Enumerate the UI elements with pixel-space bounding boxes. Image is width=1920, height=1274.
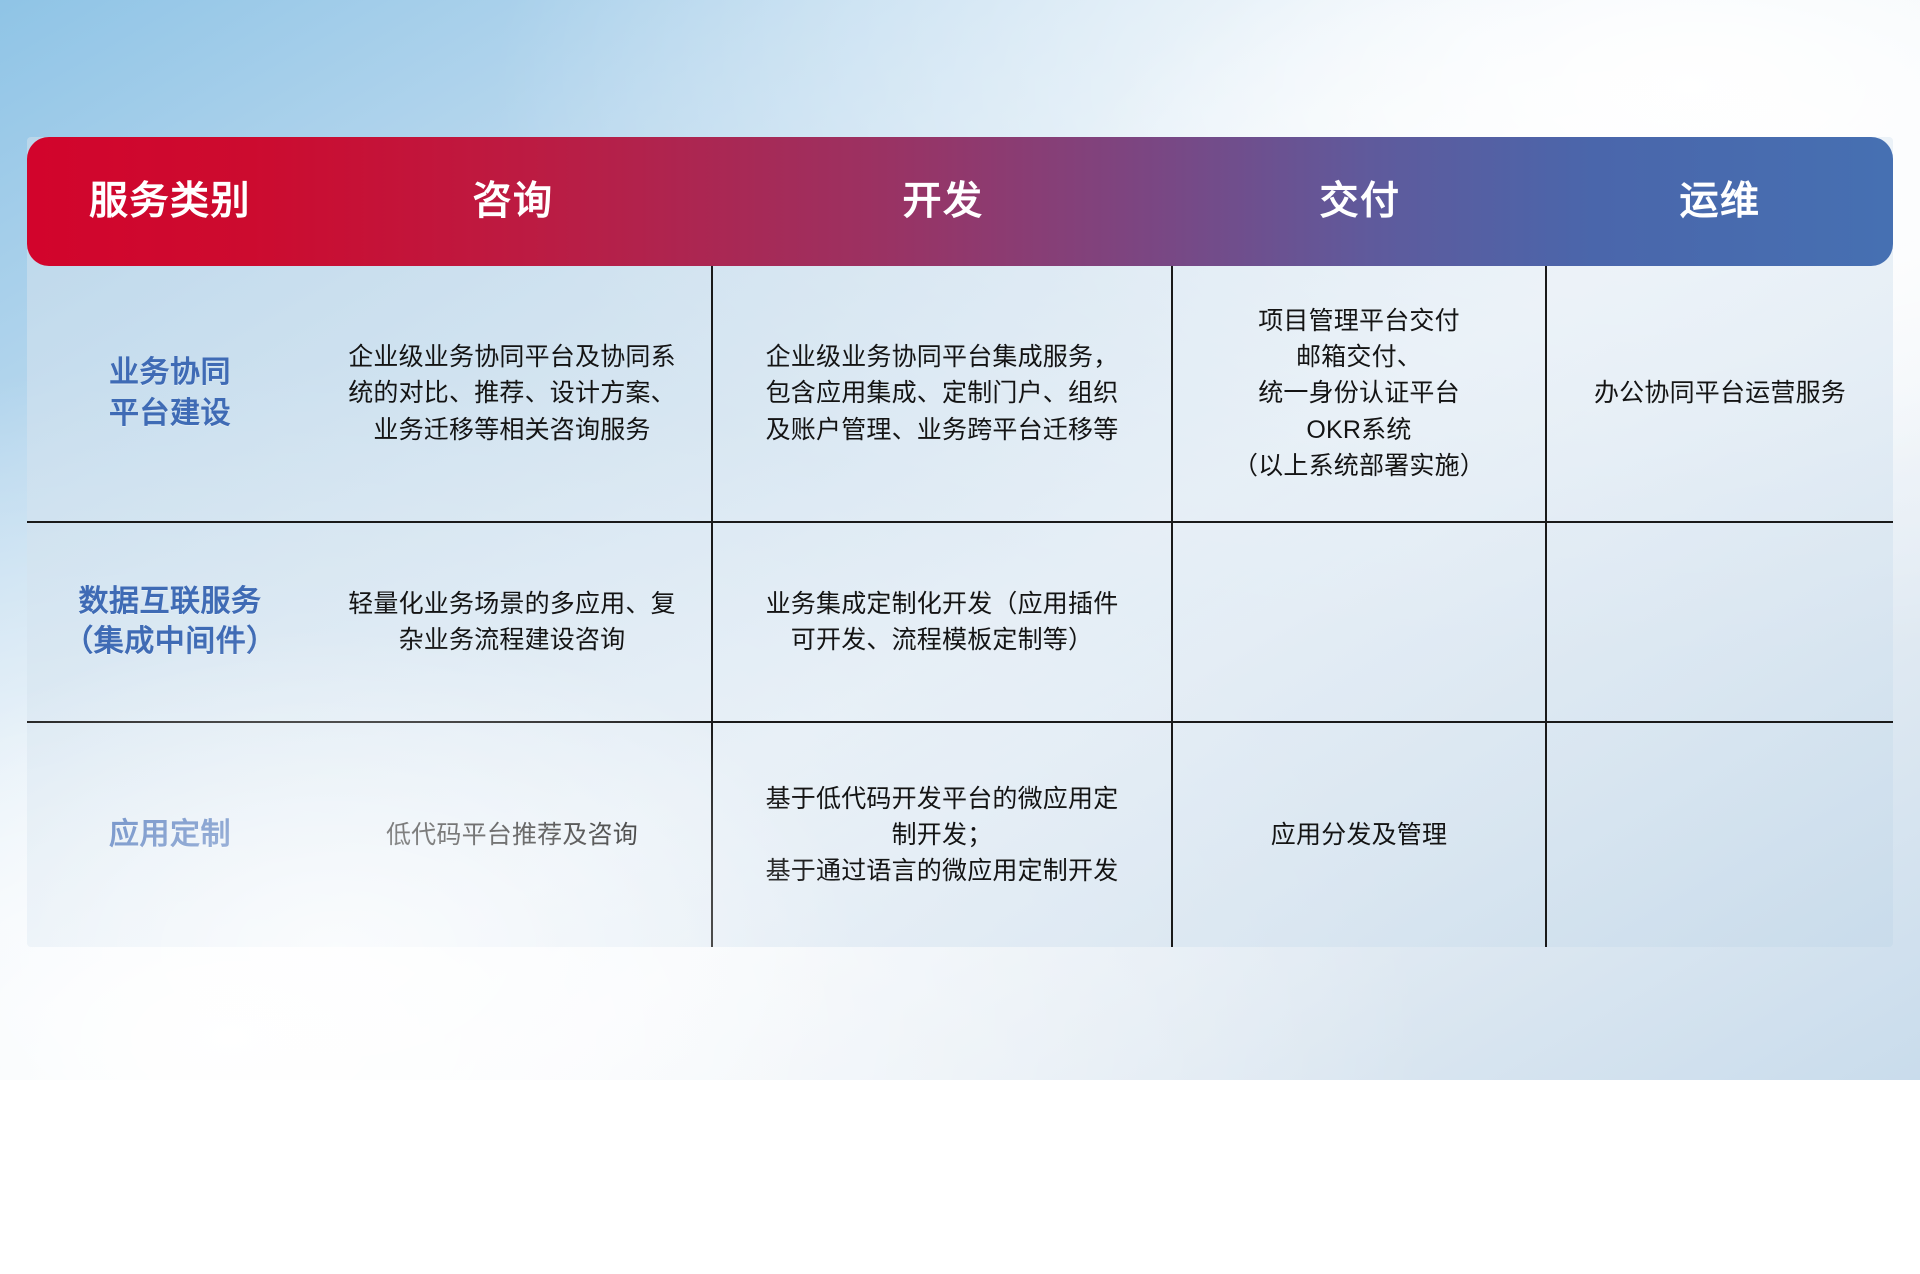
- table-row: 应用定制 低代码平台推荐及咨询 基于低代码开发平台的微应用定 制开发； 基于通过…: [27, 723, 1893, 947]
- table-header-row: 服务类别 咨询 开发 交付 运维: [27, 137, 1893, 266]
- row-category-cell: 应用定制: [27, 723, 313, 947]
- service-matrix-table: 服务类别 咨询 开发 交付 运维 业务协同 平台建设 企业级业务协同平台及协同系…: [27, 137, 1893, 947]
- column-header-consulting: 咨询: [313, 182, 713, 221]
- cell-text: 企业级业务协同平台集成服务， 包含应用集成、定制门户、组织 及账户管理、业务跨平…: [766, 339, 1119, 448]
- cell-operations: [1547, 723, 1893, 947]
- column-header-delivery: 交付: [1173, 182, 1547, 221]
- slide-background: 服务类别 咨询 开发 交付 运维 业务协同 平台建设 企业级业务协同平台及协同系…: [0, 0, 1920, 1080]
- row-label: 数据互联服务 （集成中间件）: [63, 582, 277, 663]
- cell-text: 业务集成定制化开发（应用插件 可开发、流程模板定制等）: [766, 586, 1119, 659]
- cell-consulting: 低代码平台推荐及咨询: [313, 723, 713, 947]
- column-header-operations: 运维: [1547, 182, 1893, 221]
- cell-text: 低代码平台推荐及咨询: [386, 817, 638, 853]
- cell-delivery: 应用分发及管理: [1173, 723, 1547, 947]
- cell-consulting: 企业级业务协同平台及协同系 统的对比、推荐、设计方案、 业务迁移等相关咨询服务: [313, 266, 713, 521]
- cell-text: 项目管理平台交付 邮箱交付、 统一身份认证平台 OKR系统 （以上系统部署实施）: [1233, 303, 1485, 484]
- cell-development: 基于低代码开发平台的微应用定 制开发； 基于通过语言的微应用定制开发: [713, 723, 1173, 947]
- cell-delivery: 项目管理平台交付 邮箱交付、 统一身份认证平台 OKR系统 （以上系统部署实施）: [1173, 266, 1547, 521]
- cell-delivery: [1173, 523, 1547, 721]
- table-row: 数据互联服务 （集成中间件） 轻量化业务场景的多应用、复 杂业务流程建设咨询 业…: [27, 523, 1893, 723]
- cell-consulting: 轻量化业务场景的多应用、复 杂业务流程建设咨询: [313, 523, 713, 721]
- cell-text: 办公协同平台运营服务: [1594, 375, 1846, 411]
- column-header-category: 服务类别: [27, 182, 313, 221]
- cell-operations: 办公协同平台运营服务: [1547, 266, 1893, 521]
- row-category-cell: 数据互联服务 （集成中间件）: [27, 523, 313, 721]
- table-body: 业务协同 平台建设 企业级业务协同平台及协同系 统的对比、推荐、设计方案、 业务…: [27, 266, 1893, 947]
- cell-operations: [1547, 523, 1893, 721]
- cell-text: 应用分发及管理: [1271, 817, 1447, 853]
- table-row: 业务协同 平台建设 企业级业务协同平台及协同系 统的对比、推荐、设计方案、 业务…: [27, 266, 1893, 523]
- cell-text: 企业级业务协同平台及协同系 统的对比、推荐、设计方案、 业务迁移等相关咨询服务: [348, 339, 676, 448]
- cell-development: 企业级业务协同平台集成服务， 包含应用集成、定制门户、组织 及账户管理、业务跨平…: [713, 266, 1173, 521]
- cell-text: 轻量化业务场景的多应用、复 杂业务流程建设咨询: [348, 586, 676, 659]
- cell-text: 基于低代码开发平台的微应用定 制开发； 基于通过语言的微应用定制开发: [766, 781, 1119, 890]
- row-label: 应用定制: [109, 815, 231, 856]
- row-label: 业务协同 平台建设: [109, 353, 231, 434]
- row-category-cell: 业务协同 平台建设: [27, 266, 313, 521]
- cell-development: 业务集成定制化开发（应用插件 可开发、流程模板定制等）: [713, 523, 1173, 721]
- column-header-development: 开发: [713, 182, 1173, 221]
